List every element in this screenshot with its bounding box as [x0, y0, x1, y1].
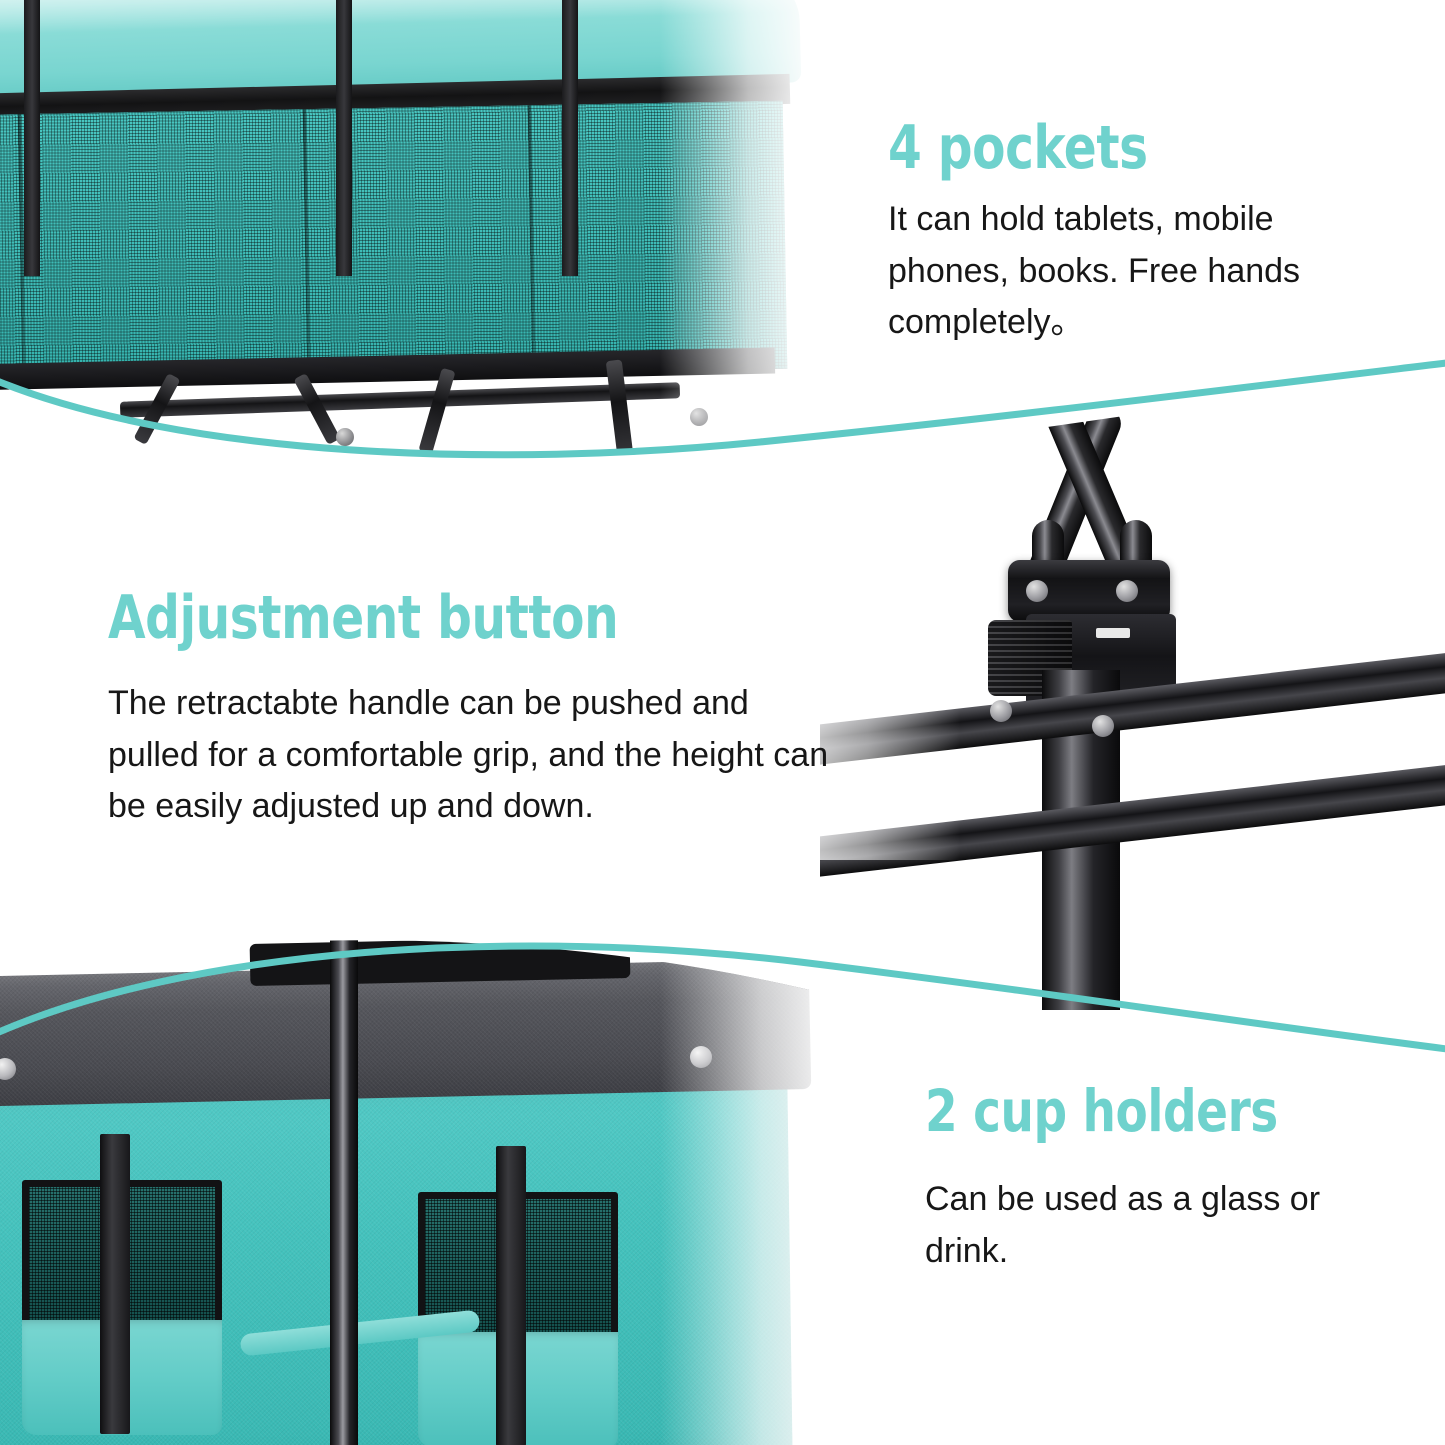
photo-cup-holders	[0, 930, 870, 1445]
infographic-page: 4 pockets It can hold tablets, mobile ph…	[0, 0, 1445, 1445]
pocket-divider-strap	[336, 0, 352, 276]
feature-body-adjustment: The retractabte handle can be pushed and…	[108, 678, 838, 833]
cup-holder-strap	[100, 1134, 130, 1434]
photo-edge-fade	[660, 930, 870, 1445]
feature-text-adjustment: Adjustment button The retractabte handle…	[108, 588, 838, 833]
feature-body-pockets: It can hold tablets, mobile phones, book…	[888, 194, 1358, 349]
feature-title-pockets: 4 pockets	[888, 118, 1311, 178]
handle-collar-clamp	[1008, 560, 1170, 622]
rail-rivet	[1092, 715, 1114, 737]
pocket-divider-strap	[24, 0, 40, 276]
photo-edge-fade	[820, 670, 960, 860]
photo-adjustment-handle	[820, 370, 1445, 1010]
collar-rivet	[1026, 580, 1048, 602]
cup-holder-strap	[496, 1146, 526, 1445]
feature-text-pockets: 4 pockets It can hold tablets, mobile ph…	[888, 118, 1358, 349]
wagon-vertical-pole	[330, 930, 358, 1445]
pocket-seam	[528, 105, 536, 373]
photo-pockets	[0, 0, 860, 470]
pocket-seam	[303, 109, 311, 377]
pocket-divider-strap	[562, 0, 578, 276]
cup-holder-pocket-1	[22, 1180, 222, 1435]
feature-title-cupholders: 2 cup holders	[925, 1082, 1330, 1140]
feature-text-cupholders: 2 cup holders Can be used as a glass or …	[925, 1082, 1375, 1277]
feature-body-cupholders: Can be used as a glass or drink.	[925, 1174, 1375, 1277]
frame-bolt	[336, 428, 354, 446]
collar-rivet	[1116, 580, 1138, 602]
feature-title-adjustment: Adjustment button	[108, 588, 765, 648]
rail-rivet	[990, 700, 1012, 722]
rim-black-notch	[250, 936, 631, 986]
adjustment-lock-slot	[1096, 628, 1130, 638]
photo-edge-fade	[660, 0, 860, 470]
